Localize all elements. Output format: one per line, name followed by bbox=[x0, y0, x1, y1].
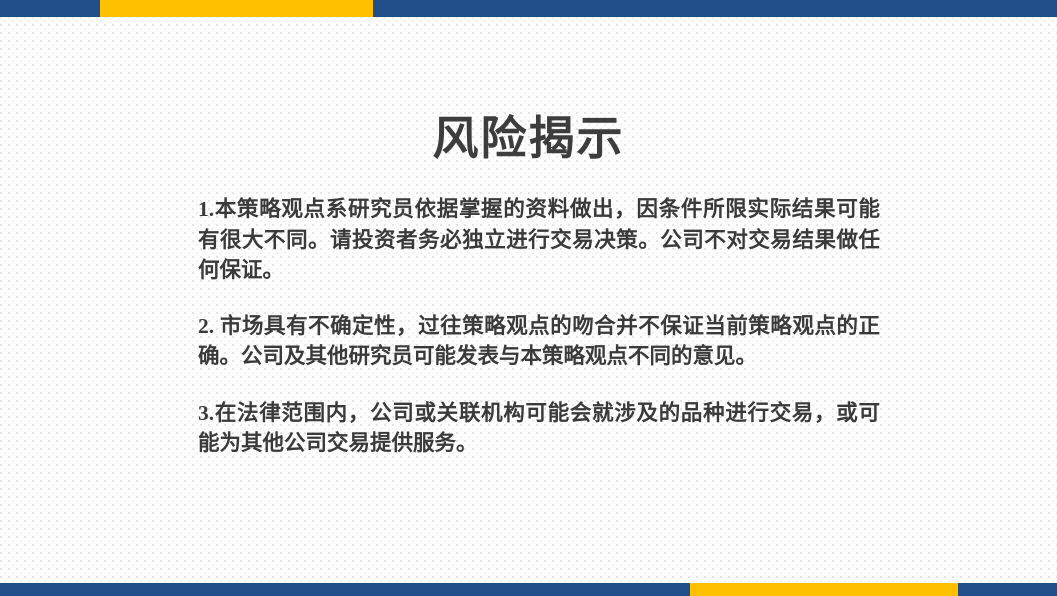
disclaimer-paragraph-3: 3.在法律范围内，公司或关联机构可能会就涉及的品种进行交易，或可能为其他公司交易… bbox=[198, 398, 880, 459]
disclaimer-body: 1.本策略观点系研究员依据掌握的资料做出，因条件所限实际结果可能有很大不同。请投… bbox=[198, 194, 880, 459]
slide-canvas: 风险揭示 1.本策略观点系研究员依据掌握的资料做出，因条件所限实际结果可能有很大… bbox=[0, 0, 1057, 596]
disclaimer-paragraph-1: 1.本策略观点系研究员依据掌握的资料做出，因条件所限实际结果可能有很大不同。请投… bbox=[198, 194, 880, 286]
slide-content: 风险揭示 1.本策略观点系研究员依据掌握的资料做出，因条件所限实际结果可能有很大… bbox=[0, 0, 1057, 596]
disclaimer-paragraph-2: 2. 市场具有不确定性，过往策略观点的吻合并不保证当前策略观点的正确。公司及其他… bbox=[198, 311, 880, 372]
page-title: 风险揭示 bbox=[0, 114, 1057, 165]
